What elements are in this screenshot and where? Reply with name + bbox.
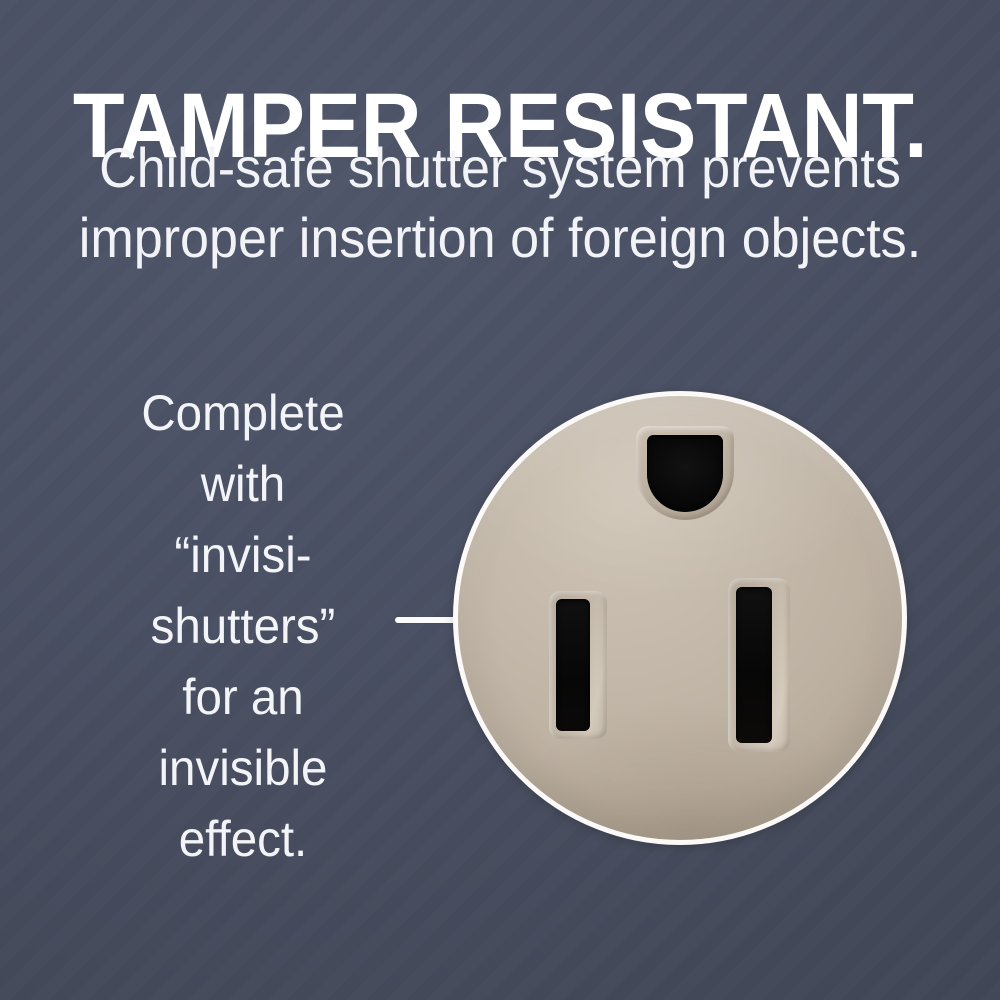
subtitle-line-1: Child-safe shutter system prevents (63, 133, 937, 203)
feature-graphic-canvas: TAMPER RESISTANT. Child-safe shutter sys… (0, 0, 1000, 1000)
outlet-magnifier-circle (453, 391, 907, 845)
hot-slot-icon (549, 591, 607, 739)
callout-line-2: with (105, 449, 381, 520)
neutral-slot-icon (728, 578, 790, 752)
ground-slot-opening (647, 435, 723, 512)
callout-line-4: shutters” (105, 591, 381, 662)
callout-line-7: effect. (105, 804, 381, 875)
callout-line-5: for an (105, 662, 381, 733)
callout-caption: Complete with “invisi- shutters” for an … (105, 378, 381, 875)
callout-line-6: invisible (105, 733, 381, 804)
subtitle: Child-safe shutter system prevents impro… (63, 133, 937, 273)
ground-slot-icon (636, 426, 734, 520)
callout-line-1: Complete (105, 378, 381, 449)
neutral-slot-opening (736, 587, 772, 743)
subtitle-line-2: improper insertion of foreign objects. (63, 203, 937, 273)
callout-line-3: “invisi- (105, 520, 381, 591)
hot-slot-opening (556, 599, 590, 731)
